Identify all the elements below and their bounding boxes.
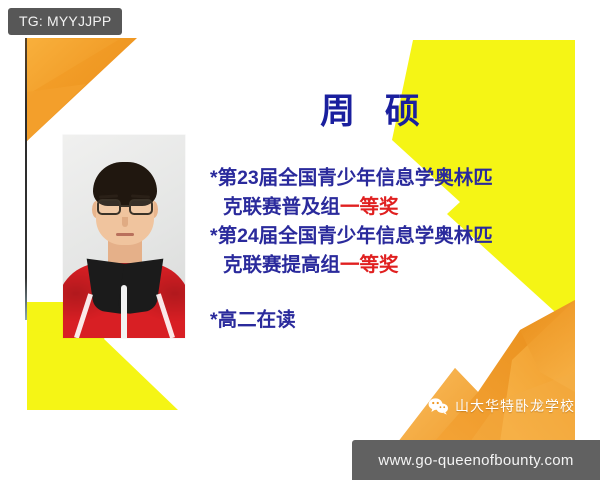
photo-nose — [122, 217, 128, 227]
spacer — [210, 280, 550, 306]
wechat-icon — [428, 397, 449, 415]
achievement-1-award: 一等奖 — [340, 196, 399, 218]
achievement-2-line-2: 克联赛提高组一等奖 — [210, 251, 550, 280]
url-watermark-text: www.go-queenofbounty.com — [378, 452, 573, 469]
left-vertical-rule — [25, 38, 27, 320]
wechat-account-name: 山大华特卧龙学校 — [455, 396, 575, 416]
telegram-watermark-tag: TG: MYYJJPP — [8, 8, 122, 35]
photo-zipper — [121, 285, 127, 338]
photo-mouth — [116, 233, 134, 236]
achievement-1-group: 克联赛普及组 — [223, 196, 340, 218]
photo-lens-left — [97, 199, 121, 215]
achievement-1-line-2: 克联赛普及组一等奖 — [210, 193, 550, 222]
screenshot-root: 周 硕 *第23届全国青少年信息学奥林匹 克联赛普及组一等奖 *第24届全国青少… — [0, 0, 600, 480]
photo-lens-right — [129, 199, 153, 215]
achievement-list: *第23届全国青少年信息学奥林匹 克联赛普及组一等奖 *第24届全国青少年信息学… — [210, 164, 550, 335]
achievement-2-line-1: *第24届全国青少年信息学奥林匹 — [210, 222, 550, 251]
photo-hair-fringe — [96, 179, 154, 195]
achievement-1-line-1: *第23届全国青少年信息学奥林匹 — [210, 164, 550, 193]
shape-orange-top-left — [27, 38, 137, 141]
student-portrait-photo — [63, 135, 185, 338]
student-name-title: 周 硕 — [205, 93, 545, 132]
achievement-2-group: 克联赛提高组 — [223, 254, 340, 276]
enrollment-status: *高二在读 — [210, 306, 550, 335]
wechat-brand: 山大华特卧龙学校 — [428, 396, 575, 416]
photo-glasses — [96, 199, 154, 216]
photo-glasses-bridge — [121, 205, 129, 207]
achievement-2-award: 一等奖 — [340, 254, 399, 276]
presentation-slide: 周 硕 *第23届全国青少年信息学奥林匹 克联赛普及组一等奖 *第24届全国青少… — [0, 0, 600, 480]
url-watermark-bar: www.go-queenofbounty.com — [352, 440, 600, 480]
